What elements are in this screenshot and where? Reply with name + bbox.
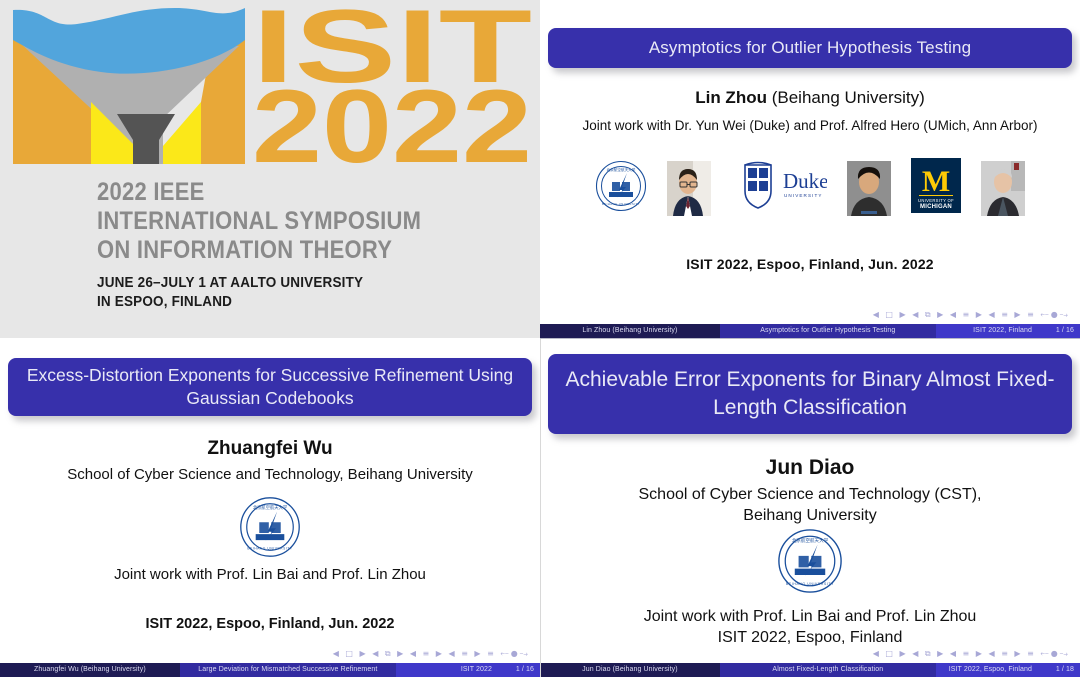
footer-author: Lin Zhou (Beihang University) [540,324,720,338]
svg-text:北京航空航天大学: 北京航空航天大学 [792,537,829,544]
svg-text:Duke: Duke [783,169,827,193]
poster-line-5: IN ESPOO, FINLAND [97,292,484,311]
footer-page-number: 1 / 18 [1048,663,1074,677]
svg-text:BEIHANG UNIVERSITY: BEIHANG UNIVERSITY [247,547,293,551]
venue-line: ISIT 2022, Espoo, Finland [540,627,1080,648]
footer-venue-page: ISIT 2022 1 / 16 [396,663,540,677]
author-name: Zhuangfei Wu [0,438,540,460]
author-name: Lin Zhou [695,88,767,107]
beamer-nav-glyphs[interactable]: ◀ □ ▶ ◀ ⧉ ▶ ◀ ≡ ▶ ◀ ≡ ▶ ≡ ⤌●⤍ [873,310,1070,320]
panel-slide-classification: Achievable Error Exponents for Binary Al… [540,338,1080,677]
poster-line-3: ON INFORMATION THEORY [97,236,475,265]
svg-text:2022: 2022 [252,69,532,166]
footer-venue-page: ISIT 2022, Espoo, Finland 1 / 18 [936,663,1080,677]
footer-venue-page: ISIT 2022, Finland 1 / 16 [936,324,1080,338]
footer-venue: ISIT 2022 [461,663,492,677]
panel-isit-poster: ISIT 2022 2022 IEEE INTERNATIONAL SYMPOS… [0,0,540,338]
venue-line: ISIT 2022, Espoo, Finland, Jun. 2022 [540,256,1080,272]
svg-text:北京航空航天大学: 北京航空航天大学 [607,167,636,172]
svg-text:MICHIGAN: MICHIGAN [920,204,952,210]
slide-almost-fixed-length-classification: Achievable Error Exponents for Binary Al… [540,338,1080,677]
joint-work-line: Joint work with Prof. Lin Bai and Prof. … [540,606,1080,627]
author-affiliation: School of Cyber Science and Technology (… [540,484,1080,526]
slide-footer: Zhuangfei Wu (Beihang University) Large … [0,663,540,677]
footer-author: Zhuangfei Wu (Beihang University) [0,663,180,677]
author-line: Lin Zhou (Beihang University) [540,88,1080,108]
joint-work-line: Joint work with Prof. Lin Bai and Prof. … [0,566,540,583]
footer-page-number: 1 / 16 [508,663,534,677]
svg-text:BEIHANG UNIVERSITY: BEIHANG UNIVERSITY [786,582,834,586]
slide-title-bar: Excess-Distortion Exponents for Successi… [8,358,532,416]
slide-footer: Jun Diao (Beihang University) Almost Fix… [540,663,1080,677]
isit-wordmark: ISIT 2022 [252,2,537,166]
svg-text:BEIHANG UNIVERSITY: BEIHANG UNIVERSITY [602,202,640,206]
footer-venue: ISIT 2022, Espoo, Finland [949,663,1032,677]
slide-title-bar: Achievable Error Exponents for Binary Al… [548,354,1072,434]
footer-venue: ISIT 2022, Finland [973,324,1032,338]
author-affiliation: School of Cyber Science and Technology, … [0,466,540,483]
isit-funnel-logo-icon [13,6,245,164]
slide-body: Achievable Error Exponents for Binary Al… [540,338,1080,663]
beamer-nav-glyphs[interactable]: ◀ □ ▶ ◀ ⧉ ▶ ◀ ≡ ▶ ◀ ≡ ▶ ≡ ⤌●⤍ [333,649,530,659]
footer-title: Large Deviation for Mismatched Successiv… [180,663,396,677]
footer-title: Asymptotics for Outlier Hypothesis Testi… [720,324,936,338]
beamer-nav-glyphs[interactable]: ◀ □ ▶ ◀ ⧉ ▶ ◀ ≡ ▶ ◀ ≡ ▶ ≡ ⤌●⤍ [873,649,1070,659]
slide-collage: ISIT 2022 2022 IEEE INTERNATIONAL SYMPOS… [0,0,1080,677]
svg-text:UNIVERSITY OF: UNIVERSITY OF [918,198,954,203]
joint-work-block: Joint work with Prof. Lin Bai and Prof. … [540,606,1080,648]
isit-poster: ISIT 2022 2022 IEEE INTERNATIONAL SYMPOS… [0,0,540,338]
poster-line-2: INTERNATIONAL SYMPOSIUM [97,207,475,236]
panel-slide-successive-refinement: Excess-Distortion Exponents for Successi… [0,338,540,677]
venue-line: ISIT 2022, Espoo, Finland, Jun. 2022 [0,616,540,632]
quadrant-divider-vertical [540,338,541,677]
poster-line-1: 2022 IEEE [97,178,475,207]
author-affiliation: (Beihang University) [772,88,925,107]
beihang-university-seal-icon: 北京航空航天大学 BEIHANG UNIVERSITY [595,160,647,217]
affiliation-image-row: 北京航空航天大学 BEIHANG UNIVERSITY [540,158,1080,218]
slide-outlier-hypothesis-testing: Asymptotics for Outlier Hypothesis Testi… [540,0,1080,338]
slide-successive-refinement: Excess-Distortion Exponents for Successi… [0,338,540,677]
affiliation-line-1: School of Cyber Science and Technology (… [540,484,1080,505]
alfred-hero-portrait [981,161,1025,216]
yun-wei-portrait [847,161,891,216]
duke-university-logo: Duke UNIVERSITY [731,160,827,217]
footer-author: Jun Diao (Beihang University) [540,663,720,677]
affiliation-line-2: Beihang University [540,505,1080,526]
svg-text:北京航空航天大学: 北京航空航天大学 [253,504,288,511]
slide-title-bar: Asymptotics for Outlier Hypothesis Testi… [548,28,1072,68]
author-name: Jun Diao [540,456,1080,480]
conference-text-block: 2022 IEEE INTERNATIONAL SYMPOSIUM ON INF… [97,178,527,311]
poster-line-4: JUNE 26–JULY 1 AT AALTO UNIVERSITY [97,273,484,292]
joint-work-line: Joint work with Dr. Yun Wei (Duke) and P… [540,118,1080,133]
quadrant-divider-horizontal [540,338,1080,339]
beihang-university-seal-icon: 北京航空航天大学 BEIHANG UNIVERSITY [777,528,843,599]
seal-row: 北京航空航天大学 BEIHANG UNIVERSITY [0,496,540,563]
slide-body: Excess-Distortion Exponents for Successi… [0,338,540,663]
svg-text:M: M [922,165,950,198]
panel-slide-outlier: Asymptotics for Outlier Hypothesis Testi… [540,0,1080,338]
svg-text:UNIVERSITY: UNIVERSITY [784,193,823,198]
slide-body: Asymptotics for Outlier Hypothesis Testi… [540,0,1080,324]
university-of-michigan-logo: M UNIVERSITY OF MICHIGAN [911,158,961,218]
slide-footer: Lin Zhou (Beihang University) Asymptotic… [540,324,1080,338]
seal-row: 北京航空航天大学 BEIHANG UNIVERSITY [540,528,1080,599]
footer-page-number: 1 / 16 [1048,324,1074,338]
lin-zhou-portrait [667,161,711,216]
footer-title: Almost Fixed-Length Classification [720,663,936,677]
beihang-university-seal-icon: 北京航空航天大学 BEIHANG UNIVERSITY [239,496,301,563]
